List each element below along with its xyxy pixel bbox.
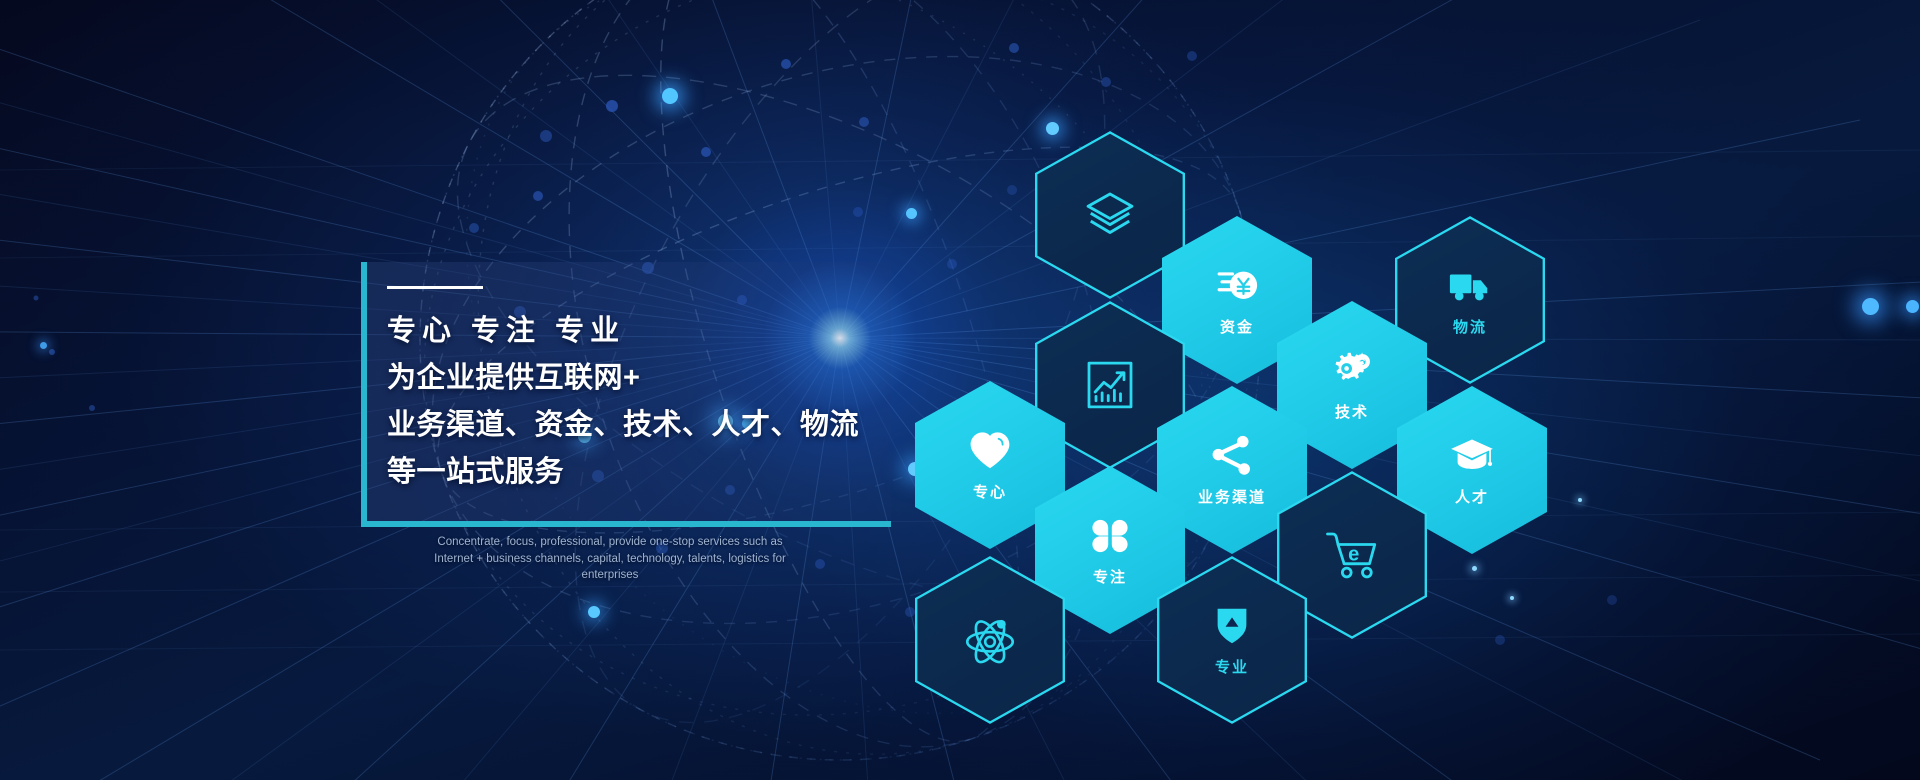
clover-icon bbox=[1087, 513, 1133, 559]
hexagon-talents[interactable]: 人才 bbox=[1397, 386, 1547, 554]
graduation-cap-icon bbox=[1449, 433, 1495, 479]
hexagon-cluster: 资金物流技术专心业务渠道人才专注专业 bbox=[0, 0, 1920, 780]
hexagon-label: 专业 bbox=[1215, 656, 1249, 677]
hexagon-content: 专业 bbox=[1157, 556, 1307, 724]
hexagon-outline-ring bbox=[915, 556, 1065, 724]
hexagon-label: 专注 bbox=[1093, 566, 1127, 587]
hexagon-ecommerce[interactable] bbox=[1277, 471, 1427, 639]
hexagon-label: 物流 bbox=[1453, 316, 1487, 337]
subtitle-text: Concentrate, focus, professional, provid… bbox=[420, 534, 800, 584]
hexagon-layers[interactable] bbox=[1035, 131, 1185, 299]
hexagon-content: 资金 bbox=[1162, 216, 1312, 384]
headline-line-2: 为企业提供互联网+ bbox=[387, 355, 887, 402]
headline-panel: 专心 专注 专业 为企业提供互联网+ 业务渠道、资金、技术、人才、物流 等一站式… bbox=[361, 262, 891, 527]
layers-icon bbox=[1082, 187, 1138, 243]
shopping-cart-e-icon bbox=[1324, 527, 1380, 583]
hexagon-channels[interactable]: 业务渠道 bbox=[1157, 386, 1307, 554]
hexagon-content bbox=[1035, 131, 1185, 299]
light-rays bbox=[0, 0, 1920, 780]
hexagon-content: 业务渠道 bbox=[1157, 386, 1307, 554]
diamond-gem-icon bbox=[1209, 603, 1255, 649]
hexagon-pro[interactable]: 专业 bbox=[1157, 556, 1307, 724]
yen-money-icon bbox=[1214, 263, 1260, 309]
gears-icon bbox=[1329, 348, 1375, 394]
scanlines bbox=[0, 150, 1920, 650]
truck-icon bbox=[1447, 263, 1493, 309]
headline-line-3: 业务渠道、资金、技术、人才、物流 bbox=[387, 402, 887, 449]
hexagon-funds[interactable]: 资金 bbox=[1162, 216, 1312, 384]
hexagon-label: 业务渠道 bbox=[1198, 486, 1266, 507]
page-title: 专心 专注 专业 为企业提供互联网+ 业务渠道、资金、技术、人才、物流 等一站式… bbox=[387, 308, 887, 496]
background-globe-wireframe bbox=[0, 0, 1920, 780]
hexagon-heart[interactable]: 专心 bbox=[915, 381, 1065, 549]
headline-line-4: 等一站式服务 bbox=[387, 449, 887, 496]
hexagon-content: 专注 bbox=[1035, 466, 1185, 634]
hexagon-outline-ring bbox=[1035, 301, 1185, 469]
glowing-nodes bbox=[0, 0, 1920, 780]
hexagon-content bbox=[1277, 471, 1427, 639]
growth-chart-icon bbox=[1082, 357, 1138, 413]
hexagon-content bbox=[915, 556, 1065, 724]
hexagon-label: 资金 bbox=[1220, 316, 1254, 337]
share-nodes-icon bbox=[1209, 433, 1255, 479]
hexagon-content: 物流 bbox=[1395, 216, 1545, 384]
banner-stage: 专心 专注 专业 为企业提供互联网+ 业务渠道、资金、技术、人才、物流 等一站式… bbox=[0, 0, 1920, 780]
heart-icon bbox=[967, 428, 1013, 474]
hexagon-outline-ring bbox=[1395, 216, 1545, 384]
hexagon-tech[interactable]: 技术 bbox=[1277, 301, 1427, 469]
hexagon-outline-ring bbox=[1035, 131, 1185, 299]
panel-accent-dash bbox=[387, 286, 483, 289]
hexagon-outline-ring bbox=[1277, 471, 1427, 639]
atom-icon bbox=[962, 612, 1018, 668]
hexagon-label: 技术 bbox=[1335, 401, 1369, 422]
headline-line-1: 专心 专注 专业 bbox=[387, 308, 887, 355]
hexagon-logistics[interactable]: 物流 bbox=[1395, 216, 1545, 384]
hexagon-label: 专心 bbox=[973, 481, 1007, 502]
hexagon-content bbox=[1035, 301, 1185, 469]
hexagon-content: 人才 bbox=[1397, 386, 1547, 554]
hexagon-content: 技术 bbox=[1277, 301, 1427, 469]
hexagon-outline-ring bbox=[1157, 556, 1307, 724]
hexagon-focus[interactable]: 专注 bbox=[1035, 466, 1185, 634]
hexagon-chart[interactable] bbox=[1035, 301, 1185, 469]
hexagon-label: 人才 bbox=[1455, 486, 1489, 507]
hexagon-atom[interactable] bbox=[915, 556, 1065, 724]
hexagon-content: 专心 bbox=[915, 381, 1065, 549]
